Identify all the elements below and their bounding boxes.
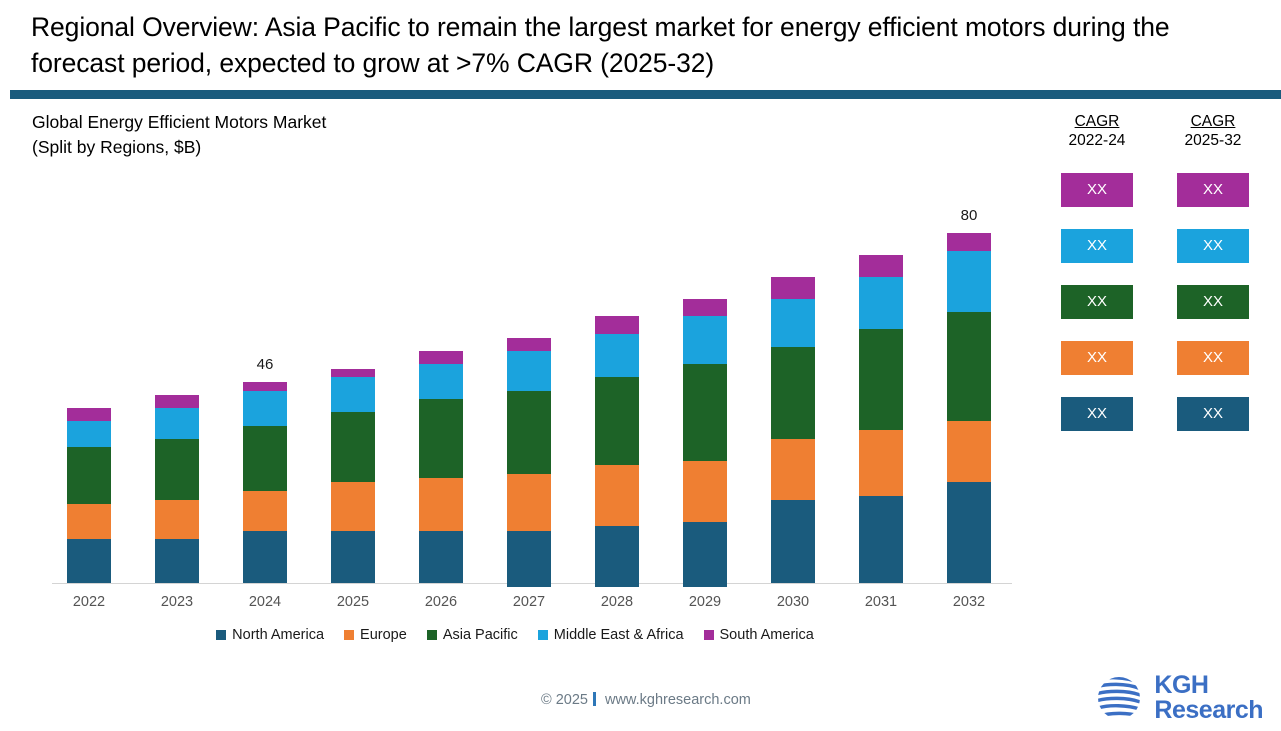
bar-segment-middle-east-africa[interactable] — [683, 316, 727, 364]
cagr-cell-1-4[interactable]: XX — [1061, 341, 1133, 375]
bar-segment-middle-east-africa[interactable] — [331, 377, 375, 412]
x-tick-2025: 2025 — [313, 594, 393, 610]
bar-segment-middle-east-africa[interactable] — [155, 408, 199, 439]
bar-segment-south-america[interactable] — [771, 277, 815, 299]
cagr-cell-2-2[interactable]: XX — [1177, 229, 1249, 263]
cagr-column-1: CAGR2022-24XXXXXXXXXX — [1050, 112, 1144, 453]
legend-item-europe[interactable]: Europe — [344, 627, 407, 643]
bar-segment-europe[interactable] — [507, 474, 551, 531]
bar-2032[interactable] — [947, 233, 991, 583]
legend-swatch-icon — [216, 630, 226, 640]
bar-segment-south-america[interactable] — [419, 351, 463, 364]
bar-segment-europe[interactable] — [331, 482, 375, 530]
bar-segment-south-america[interactable] — [155, 395, 199, 408]
bar-segment-south-america[interactable] — [595, 316, 639, 334]
x-tick-2031: 2031 — [841, 594, 921, 610]
cagr-cell-2-3[interactable]: XX — [1177, 285, 1249, 319]
bar-segment-asia-pacific[interactable] — [507, 391, 551, 474]
legend-item-north-america[interactable]: North America — [216, 627, 324, 643]
bar-segment-south-america[interactable] — [683, 299, 727, 317]
bar-value-label-2024: 46 — [225, 356, 305, 373]
footer-copyright: © 2025www.kghresearch.com — [541, 692, 751, 708]
bar-segment-asia-pacific[interactable] — [67, 447, 111, 504]
x-tick-2030: 2030 — [753, 594, 833, 610]
legend-label: Asia Pacific — [443, 627, 518, 643]
bar-segment-north-america[interactable] — [243, 531, 287, 584]
cagr-cell-1-2[interactable]: XX — [1061, 229, 1133, 263]
bar-segment-south-america[interactable] — [67, 408, 111, 421]
x-tick-2028: 2028 — [577, 594, 657, 610]
cagr-cell-2-4[interactable]: XX — [1177, 341, 1249, 375]
legend-label: North America — [232, 627, 324, 643]
bar-segment-north-america[interactable] — [67, 539, 111, 583]
bar-segment-europe[interactable] — [771, 439, 815, 500]
bar-2029[interactable] — [683, 299, 727, 583]
cagr-header-title: CAGR — [1166, 112, 1260, 131]
cagr-column-2: CAGR2025-32XXXXXXXXXX — [1166, 112, 1260, 453]
bar-segment-europe[interactable] — [595, 465, 639, 526]
website-link[interactable]: www.kghresearch.com — [605, 692, 751, 708]
bar-segment-middle-east-africa[interactable] — [507, 351, 551, 390]
brand-line-1: KGH — [1154, 673, 1263, 698]
cagr-cell-2-1[interactable]: XX — [1177, 173, 1249, 207]
bar-value-label-2032: 80 — [929, 207, 1009, 224]
cagr-header-period: 2022-24 — [1050, 131, 1144, 150]
x-tick-2027: 2027 — [489, 594, 569, 610]
x-tick-2024: 2024 — [225, 594, 305, 610]
cagr-header-period: 2025-32 — [1166, 131, 1260, 150]
bar-segment-middle-east-africa[interactable] — [243, 391, 287, 426]
legend-item-middle-east-africa[interactable]: Middle East & Africa — [538, 627, 684, 643]
bar-segment-middle-east-africa[interactable] — [859, 277, 903, 330]
bar-segment-asia-pacific[interactable] — [331, 412, 375, 482]
bar-segment-europe[interactable] — [155, 500, 199, 539]
legend-swatch-icon — [538, 630, 548, 640]
bar-segment-asia-pacific[interactable] — [155, 439, 199, 500]
bar-segment-south-america[interactable] — [859, 255, 903, 277]
bar-segment-north-america[interactable] — [155, 539, 199, 583]
x-tick-2026: 2026 — [401, 594, 481, 610]
footer-divider — [593, 692, 596, 706]
bar-segment-middle-east-africa[interactable] — [771, 299, 815, 347]
bar-segment-middle-east-africa[interactable] — [595, 334, 639, 378]
cagr-cell-2-5[interactable]: XX — [1177, 397, 1249, 431]
bar-segment-europe[interactable] — [859, 430, 903, 496]
chart-legend: North AmericaEuropeAsia PacificMiddle Ea… — [0, 627, 1030, 643]
legend-swatch-icon — [344, 630, 354, 640]
bar-2022[interactable] — [67, 408, 111, 583]
bar-segment-middle-east-africa[interactable] — [67, 421, 111, 447]
cagr-cell-1-1[interactable]: XX — [1061, 173, 1133, 207]
bar-segment-asia-pacific[interactable] — [595, 377, 639, 465]
bar-2027[interactable] — [507, 338, 551, 583]
bar-2024[interactable] — [243, 382, 287, 583]
bar-segment-north-america[interactable] — [419, 531, 463, 584]
x-tick-2023: 2023 — [137, 594, 217, 610]
bar-2028[interactable] — [595, 316, 639, 583]
bar-2026[interactable] — [419, 351, 463, 583]
bar-segment-north-america[interactable] — [683, 522, 727, 588]
bar-segment-south-america[interactable] — [243, 382, 287, 391]
brand-wordmark: KGH Research — [1154, 673, 1263, 723]
x-tick-2029: 2029 — [665, 594, 745, 610]
cagr-cell-1-3[interactable]: XX — [1061, 285, 1133, 319]
bar-segment-asia-pacific[interactable] — [859, 329, 903, 430]
bar-segment-north-america[interactable] — [507, 531, 551, 588]
legend-label: Middle East & Africa — [554, 627, 684, 643]
bar-segment-south-america[interactable] — [507, 338, 551, 351]
stacked-bar-chart: 4680 20222023202420252026202720282029203… — [0, 0, 1030, 620]
bar-segment-europe[interactable] — [67, 504, 111, 539]
bar-segment-south-america[interactable] — [947, 233, 991, 251]
cagr-column-header: CAGR2022-24 — [1050, 112, 1144, 151]
bar-segment-asia-pacific[interactable] — [771, 347, 815, 439]
bar-segment-middle-east-africa[interactable] — [419, 364, 463, 399]
bar-segment-south-america[interactable] — [331, 369, 375, 378]
x-tick-2022: 2022 — [49, 594, 129, 610]
x-tick-2032: 2032 — [929, 594, 1009, 610]
bar-segment-asia-pacific[interactable] — [419, 399, 463, 478]
cagr-header-spacer — [1050, 151, 1144, 173]
bar-segment-asia-pacific[interactable] — [683, 364, 727, 460]
bar-segment-middle-east-africa[interactable] — [947, 251, 991, 312]
cagr-header-spacer — [1166, 151, 1260, 173]
cagr-cell-1-5[interactable]: XX — [1061, 397, 1133, 431]
bar-segment-asia-pacific[interactable] — [243, 426, 287, 492]
bar-segment-north-america[interactable] — [331, 531, 375, 584]
bar-segment-europe[interactable] — [683, 461, 727, 522]
legend-swatch-icon — [427, 630, 437, 640]
bar-segment-europe[interactable] — [947, 421, 991, 482]
bar-segment-europe[interactable] — [243, 491, 287, 530]
bar-2023[interactable] — [155, 395, 199, 583]
legend-item-asia-pacific[interactable]: Asia Pacific — [427, 627, 518, 643]
cagr-header-title: CAGR — [1050, 112, 1144, 131]
bar-segment-europe[interactable] — [419, 478, 463, 531]
legend-label: South America — [720, 627, 814, 643]
legend-swatch-icon — [704, 630, 714, 640]
cagr-panel: CAGR2022-24XXXXXXXXXXCAGR2025-32XXXXXXXX… — [1050, 112, 1260, 453]
globe-icon — [1093, 672, 1145, 724]
bar-segment-north-america[interactable] — [595, 526, 639, 587]
legend-item-south-america[interactable]: South America — [704, 627, 814, 643]
bar-segment-north-america[interactable] — [859, 496, 903, 584]
bar-2031[interactable] — [859, 255, 903, 583]
bar-segment-north-america[interactable] — [947, 482, 991, 583]
bar-segment-asia-pacific[interactable] — [947, 312, 991, 421]
brand-logo: KGH Research — [1093, 672, 1263, 724]
cagr-column-header: CAGR2025-32 — [1166, 112, 1260, 151]
bar-2030[interactable] — [771, 277, 815, 583]
copyright-text: © 2025 — [541, 692, 588, 708]
bar-2025[interactable] — [331, 369, 375, 583]
brand-line-2: Research — [1154, 698, 1263, 723]
legend-label: Europe — [360, 627, 407, 643]
bar-segment-north-america[interactable] — [771, 500, 815, 583]
